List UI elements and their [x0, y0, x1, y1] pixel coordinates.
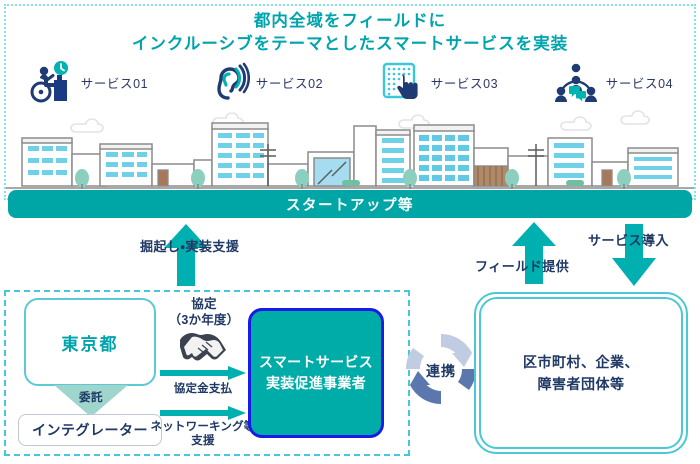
partners-box-label: 区市町村、企業、 障害者団体等	[479, 297, 683, 449]
payment-arrow-right	[160, 366, 246, 380]
networking-arrow-right	[160, 406, 246, 420]
ear-soundwave-icon	[202, 58, 250, 106]
field-offer-label: フィールド提供	[475, 256, 569, 275]
touchscreen-hand-icon	[377, 58, 425, 106]
startup-bar: スタートアップ等	[8, 190, 692, 218]
arrow-right-icon	[160, 406, 246, 420]
itaku-label: 委託	[54, 389, 128, 405]
service-label-01: サービス01	[81, 73, 149, 92]
service-item-03: サービス03	[350, 56, 525, 108]
service-item-01: サービス01	[0, 56, 175, 108]
smart-service-operator-box: スマートサービス 実装促進事業者	[248, 308, 384, 438]
service-intro-label: サービス導入	[588, 230, 669, 249]
arrow-right-icon	[160, 366, 246, 380]
handshake-svg	[176, 328, 232, 362]
partners-box: 区市町村、企業、 障害者団体等	[474, 292, 688, 454]
service-icon-row: サービス01 サービス02	[0, 56, 700, 108]
arrow-up-icon	[164, 224, 208, 286]
support-arrow-up	[164, 224, 208, 286]
wheelchair-clock-icon	[27, 58, 75, 106]
service-label-04: サービス04	[606, 73, 674, 92]
page-title: 都内全域をフィールドに インクルーシブをテーマとしたスマートサービスを実装	[0, 10, 700, 56]
cityscape-svg	[6, 108, 694, 194]
agreement-title: 協定 （3か年度）	[158, 296, 250, 328]
people-chat-circle-icon	[552, 58, 600, 106]
service-label-03: サービス03	[431, 73, 499, 92]
service-label-02: サービス02	[256, 73, 324, 92]
networking-label: ネットワーキング等 支援	[146, 420, 260, 448]
handshake-icon	[176, 328, 232, 362]
renkei-label: 連携	[398, 361, 484, 381]
cityscape-illustration	[6, 108, 694, 194]
integrator-box: インテグレーター	[18, 414, 162, 446]
infographic-root: 都内全域をフィールドに インクルーシブをテーマとしたスマートサービスを実装 サー…	[0, 0, 700, 464]
service-item-04: サービス04	[525, 56, 700, 108]
service-item-02: サービス02	[175, 56, 350, 108]
tokyo-metropolis-box: 東京都	[24, 298, 156, 386]
payment-label: 協定金支払	[152, 380, 254, 396]
support-arrow-label: 掘起し・実装支援	[140, 236, 239, 255]
